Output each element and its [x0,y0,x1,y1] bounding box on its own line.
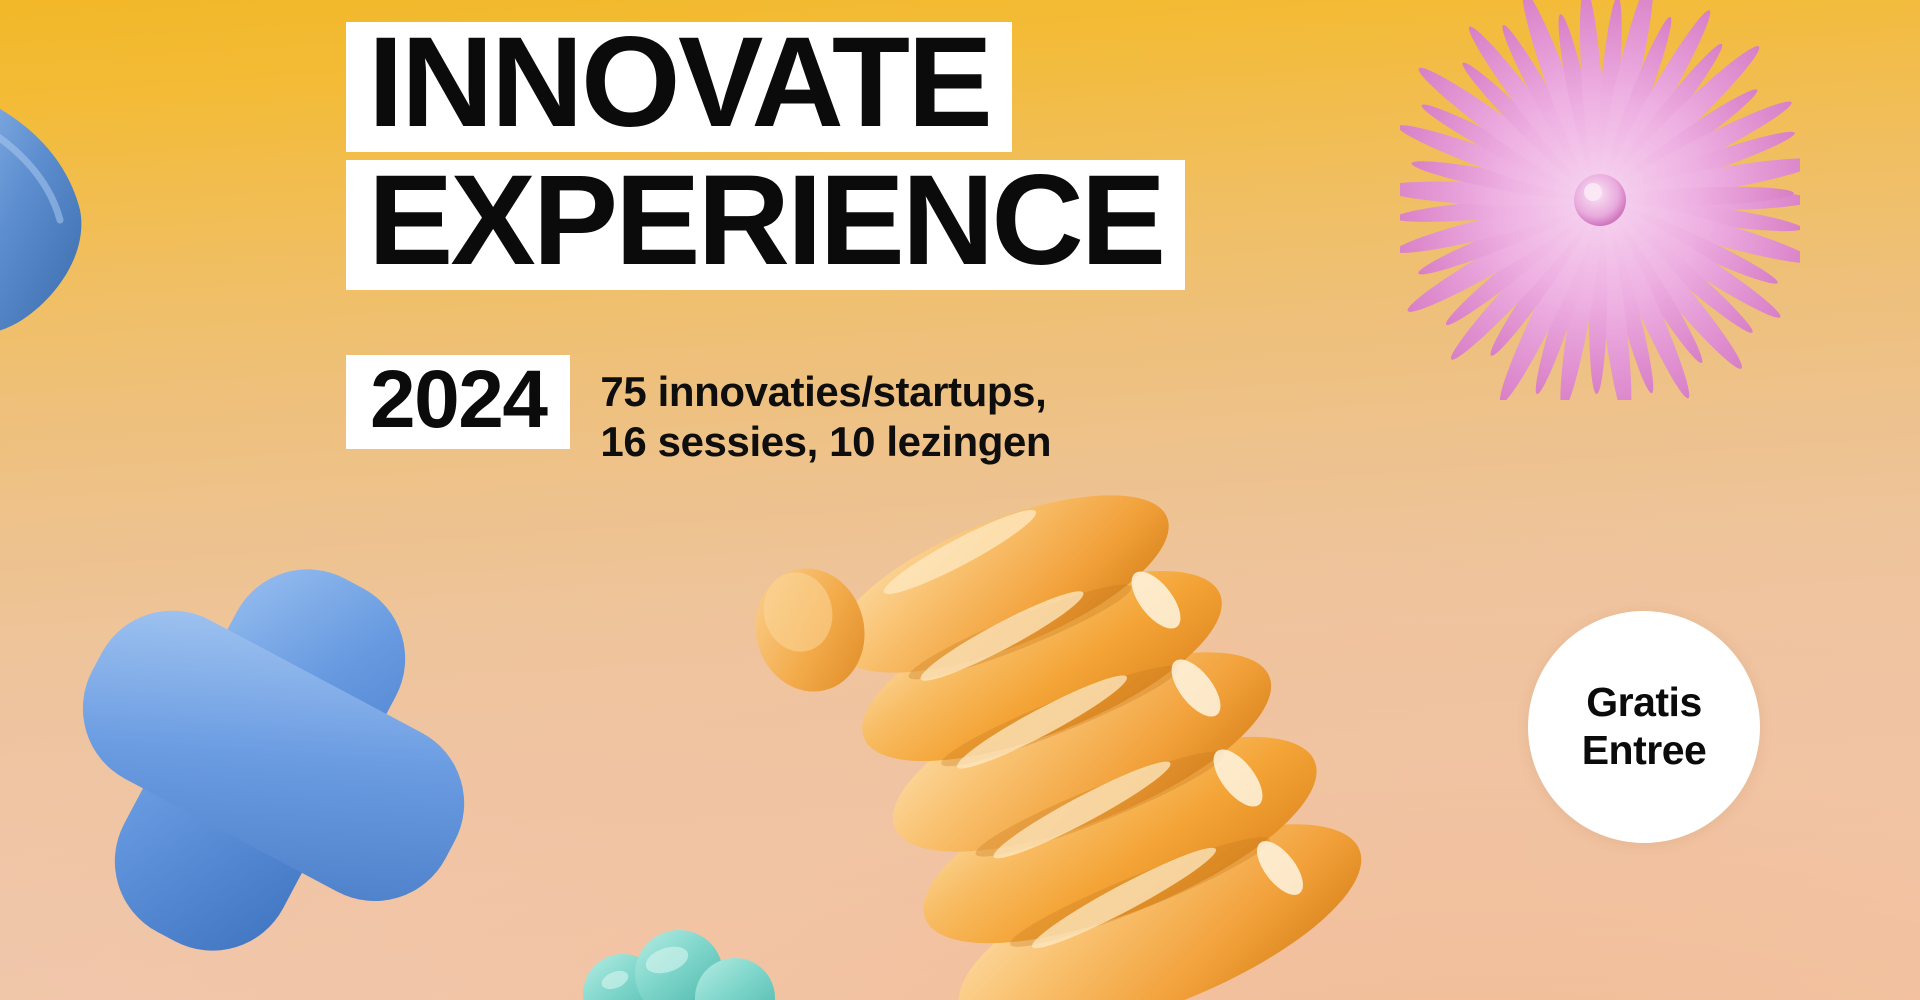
headline-line1-box: INNOVATE [346,22,1012,152]
gratis-entree-badge[interactable]: Gratis Entree [1528,611,1760,843]
subtitle-line2: 16 sessies, 10 lezingen [600,417,1051,467]
blue-shard-icon [0,80,110,340]
badge-line2: Entree [1582,727,1707,775]
badge-line1: Gratis [1586,679,1702,727]
headline-line2-box: EXPERIENCE [346,160,1185,290]
subtitle-line1: 75 innovaties/startups, [600,367,1051,417]
year-text: 2024 [370,363,546,437]
headline-line1-text: INNOVATE [368,28,990,138]
subtitle-block: 75 innovaties/startups, 16 sessies, 10 l… [600,367,1051,466]
orange-coil-icon [690,460,1550,1000]
poster-canvas: INNOVATE EXPERIENCE 2024 75 innovaties/s… [0,0,1920,1000]
year-box: 2024 [346,355,570,449]
headline-line2-text: EXPERIENCE [368,166,1163,276]
starburst-icon [1400,0,1800,400]
headline-group: INNOVATE EXPERIENCE [346,22,1185,290]
blue-cross-icon [30,520,500,1000]
year-subtitle-row: 2024 75 innovaties/startups, 16 sessies,… [346,355,1051,466]
